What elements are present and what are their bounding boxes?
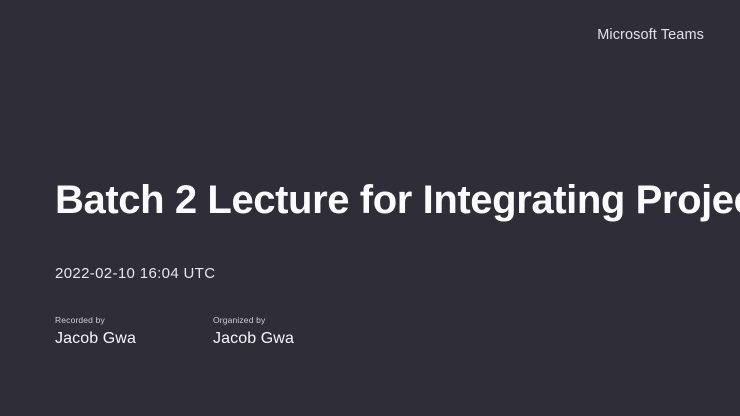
- credit-recorded-by-value: Jacob Gwa: [55, 330, 213, 348]
- credit-recorded-by-label: Recorded by: [55, 316, 213, 325]
- meeting-datetime: 2022-02-10 16:04 UTC: [55, 265, 700, 282]
- credit-organized-by-value: Jacob Gwa: [213, 330, 371, 348]
- recording-info-block: Batch 2 Lecture for Integrating Projects…: [55, 178, 700, 349]
- credits-row: Recorded by Jacob Gwa Organized by Jacob…: [55, 316, 700, 349]
- credit-organized-by: Organized by Jacob Gwa: [213, 316, 371, 349]
- meeting-title: Batch 2 Lecture for Integrating Projects: [55, 178, 700, 223]
- microsoft-teams-brand-label: Microsoft Teams: [597, 28, 704, 44]
- teams-recording-title-card: Microsoft Teams Batch 2 Lecture for Inte…: [0, 0, 740, 416]
- credit-organized-by-label: Organized by: [213, 316, 371, 325]
- credit-recorded-by: Recorded by Jacob Gwa: [55, 316, 213, 349]
